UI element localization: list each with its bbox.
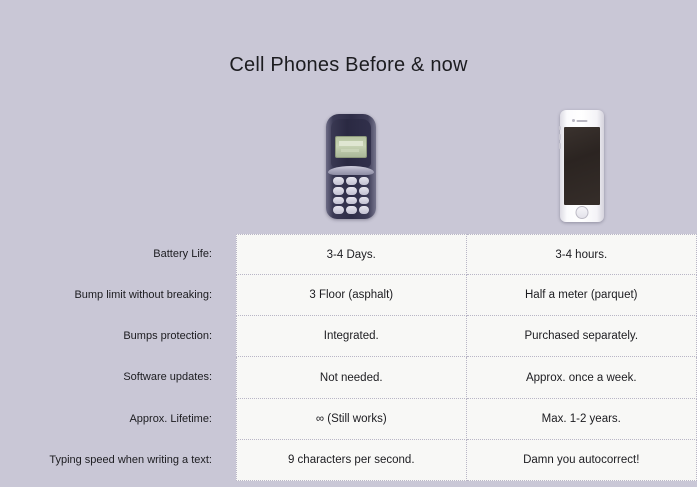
nokia-lcd-screen-icon bbox=[335, 136, 367, 158]
nokia-key bbox=[359, 197, 370, 205]
nokia-lcd-line-1 bbox=[339, 141, 363, 146]
cell-now: Damn you autocorrect! bbox=[467, 440, 697, 481]
nokia-keypad-icon bbox=[333, 177, 369, 214]
nokia-key bbox=[333, 187, 344, 195]
cell-before: 3 Floor (asphalt) bbox=[236, 275, 467, 316]
page-title: Cell Phones Before & now bbox=[0, 54, 697, 77]
phone-images-row bbox=[236, 104, 697, 228]
cell-now: Max. 1-2 years. bbox=[467, 399, 697, 440]
row-label: Typing speed when writing a text: bbox=[0, 440, 212, 481]
cell-now: Purchased separately. bbox=[467, 316, 697, 357]
iphone-5-phone-icon bbox=[560, 110, 604, 222]
row-label: Bump limit without breaking: bbox=[0, 275, 212, 316]
iphone-screen bbox=[564, 127, 600, 205]
iphone-mute-switch-icon bbox=[559, 126, 561, 130]
nokia-key bbox=[359, 187, 370, 195]
row-label: Bumps protection: bbox=[0, 316, 212, 357]
iphone-front-camera-icon bbox=[572, 119, 575, 122]
iphone-home-button-icon bbox=[575, 206, 588, 219]
cell-before: 3-4 Days. bbox=[236, 234, 467, 275]
phone-cell-before bbox=[236, 104, 467, 228]
row-label: Approx. Lifetime: bbox=[0, 399, 212, 440]
nokia-3310-phone-icon bbox=[326, 114, 376, 219]
nokia-key bbox=[333, 206, 344, 214]
cell-before: 9 characters per second. bbox=[236, 440, 467, 481]
nokia-key bbox=[359, 177, 370, 185]
table-row: Software updates: Not needed. Approx. on… bbox=[236, 357, 697, 398]
table-row: Bump limit without breaking: 3 Floor (as… bbox=[236, 275, 697, 316]
iphone-volume-down-icon bbox=[559, 143, 561, 149]
iphone-volume-up-icon bbox=[559, 134, 561, 140]
nokia-key bbox=[359, 206, 370, 214]
table-row: Typing speed when writing a text: 9 char… bbox=[236, 440, 697, 481]
row-label: Battery Life: bbox=[0, 234, 212, 275]
nokia-silver-band bbox=[328, 166, 374, 175]
iphone-earpiece-icon bbox=[576, 120, 587, 122]
table-row: Battery Life: 3-4 Days. 3-4 hours. bbox=[236, 234, 697, 275]
phone-cell-now bbox=[467, 104, 697, 228]
nokia-key bbox=[333, 177, 344, 185]
cell-now: Approx. once a week. bbox=[467, 357, 697, 398]
table-row: Bumps protection: Integrated. Purchased … bbox=[236, 316, 697, 357]
cell-before: Not needed. bbox=[236, 357, 467, 398]
nokia-key bbox=[346, 177, 357, 185]
row-label: Software updates: bbox=[0, 357, 212, 398]
nokia-key bbox=[346, 197, 357, 205]
cell-now: Half a meter (parquet) bbox=[467, 275, 697, 316]
page-root: Cell Phones Before & now bbox=[0, 0, 697, 487]
cell-now: 3-4 hours. bbox=[467, 234, 697, 275]
cell-before: Integrated. bbox=[236, 316, 467, 357]
comparison-table: Battery Life: 3-4 Days. 3-4 hours. Bump … bbox=[236, 234, 697, 481]
nokia-lcd-line-2 bbox=[341, 149, 359, 152]
nokia-key bbox=[333, 197, 344, 205]
nokia-key bbox=[346, 206, 357, 214]
cell-before: ∞ (Still works) bbox=[236, 399, 467, 440]
table-row: Approx. Lifetime: ∞ (Still works) Max. 1… bbox=[236, 399, 697, 440]
nokia-key bbox=[346, 187, 357, 195]
